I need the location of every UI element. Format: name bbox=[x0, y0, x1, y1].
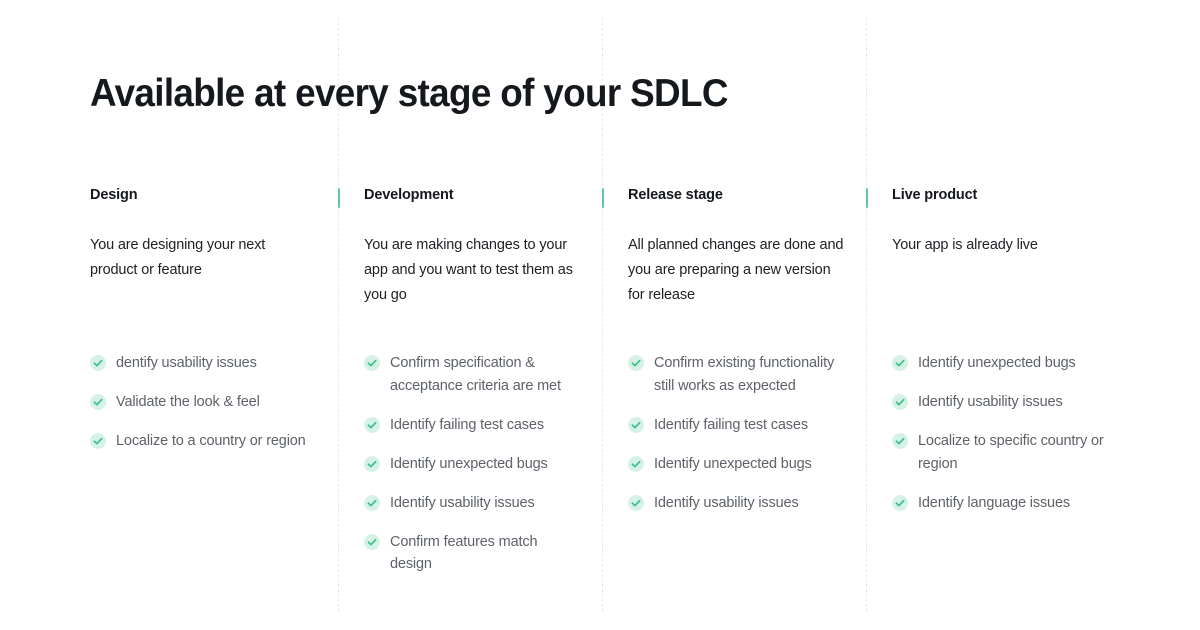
check-circle-icon bbox=[364, 495, 380, 511]
column-divider-3 bbox=[866, 18, 867, 612]
stage-column-live-product: Live product Your app is already live Id… bbox=[866, 186, 1130, 308]
list-item-label: Identify unexpected bugs bbox=[390, 453, 548, 476]
check-circle-icon bbox=[628, 456, 644, 472]
feature-list-release-stage: Confirm existing functionality still wor… bbox=[628, 352, 844, 531]
list-item: Identify failing test cases bbox=[364, 414, 580, 437]
check-circle-icon bbox=[90, 433, 106, 449]
check-circle-icon bbox=[892, 433, 908, 449]
stage-description-design: You are designing your next product or f… bbox=[90, 233, 302, 283]
list-item-label: Confirm specification & acceptance crite… bbox=[390, 352, 580, 398]
list-item: Localize to a country or region bbox=[90, 430, 316, 453]
list-item: Identify unexpected bugs bbox=[628, 453, 844, 476]
list-item-label: Identify usability issues bbox=[654, 492, 799, 515]
stage-column-release-stage: Release stage All planned changes are do… bbox=[602, 186, 866, 308]
list-item: Identify unexpected bugs bbox=[892, 352, 1108, 375]
stage-column-design: Design You are designing your next produ… bbox=[0, 186, 338, 308]
feature-list-development: Confirm specification & acceptance crite… bbox=[364, 352, 580, 592]
list-item-label: Identify failing test cases bbox=[654, 414, 808, 437]
feature-list-live-product: Identify unexpected bugsIdentify usabili… bbox=[892, 352, 1108, 531]
check-circle-icon bbox=[364, 534, 380, 550]
check-circle-icon bbox=[90, 394, 106, 410]
stage-column-development: Development You are making changes to yo… bbox=[338, 186, 602, 308]
page-title: Available at every stage of your SDLC bbox=[90, 72, 728, 116]
list-item: Identify language issues bbox=[892, 492, 1108, 515]
stage-description-development: You are making changes to your app and y… bbox=[364, 233, 578, 308]
list-item-label: dentify usability issues bbox=[116, 352, 257, 375]
list-item-label: Identify usability issues bbox=[918, 391, 1063, 414]
list-item-label: Localize to a country or region bbox=[116, 430, 306, 453]
feature-list-design: dentify usability issuesValidate the loo… bbox=[90, 352, 316, 469]
check-circle-icon bbox=[628, 495, 644, 511]
list-item-label: Localize to specific country or region bbox=[918, 430, 1108, 476]
list-item-label: Identify unexpected bugs bbox=[654, 453, 812, 476]
check-circle-icon bbox=[628, 417, 644, 433]
check-circle-icon bbox=[892, 355, 908, 371]
list-item-label: Validate the look & feel bbox=[116, 391, 260, 414]
accent-bar bbox=[602, 188, 604, 208]
list-item: Confirm features match design bbox=[364, 531, 580, 577]
check-circle-icon bbox=[892, 495, 908, 511]
check-circle-icon bbox=[364, 355, 380, 371]
list-item: Validate the look & feel bbox=[90, 391, 316, 414]
stage-heading-design: Design bbox=[90, 186, 316, 205]
list-item: Confirm existing functionality still wor… bbox=[628, 352, 844, 398]
check-circle-icon bbox=[628, 355, 644, 371]
check-circle-icon bbox=[90, 355, 106, 371]
stage-description-release-stage: All planned changes are done and you are… bbox=[628, 233, 844, 308]
stage-columns: Design You are designing your next produ… bbox=[0, 186, 1200, 308]
list-item: Identify usability issues bbox=[364, 492, 580, 515]
list-item-label: Identify unexpected bugs bbox=[918, 352, 1076, 375]
accent-bar bbox=[866, 188, 868, 208]
sdlc-stages-infographic: Available at every stage of your SDLC De… bbox=[0, 0, 1200, 630]
list-item: dentify usability issues bbox=[90, 352, 316, 375]
check-circle-icon bbox=[364, 417, 380, 433]
list-item: Confirm specification & acceptance crite… bbox=[364, 352, 580, 398]
check-circle-icon bbox=[364, 456, 380, 472]
stage-heading-live-product: Live product bbox=[892, 186, 1108, 205]
list-item: Identify usability issues bbox=[628, 492, 844, 515]
stage-heading-release-stage: Release stage bbox=[628, 186, 844, 205]
list-item-label: Identify failing test cases bbox=[390, 414, 544, 437]
list-item: Identify unexpected bugs bbox=[364, 453, 580, 476]
list-item: Identify failing test cases bbox=[628, 414, 844, 437]
list-item-label: Identify usability issues bbox=[390, 492, 535, 515]
list-item-label: Confirm features match design bbox=[390, 531, 580, 577]
check-circle-icon bbox=[892, 394, 908, 410]
stage-description-live-product: Your app is already live bbox=[892, 233, 1108, 258]
list-item: Localize to specific country or region bbox=[892, 430, 1108, 476]
list-item-label: Confirm existing functionality still wor… bbox=[654, 352, 844, 398]
list-item-label: Identify language issues bbox=[918, 492, 1070, 515]
list-item: Identify usability issues bbox=[892, 391, 1108, 414]
stage-heading-development: Development bbox=[364, 186, 580, 205]
accent-bar bbox=[338, 188, 340, 208]
